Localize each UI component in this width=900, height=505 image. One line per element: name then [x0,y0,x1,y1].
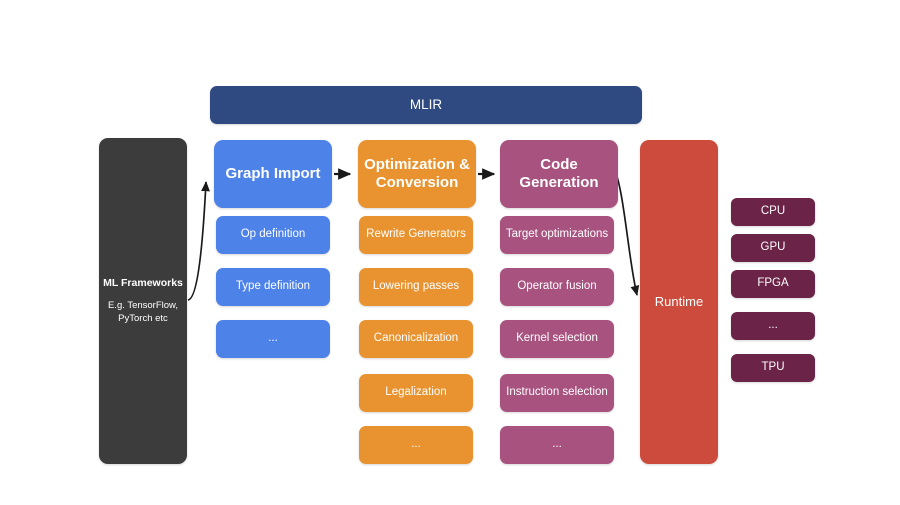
hardware-target-cpu[interactable]: CPU [731,198,815,226]
item-instruction-selection[interactable]: Instruction selection [500,374,614,412]
hardware-target-tpu[interactable]: TPU [731,354,815,382]
ml-frameworks-box[interactable]: ML Frameworks E.g. TensorFlow, PyTorch e… [99,138,187,464]
item-rewrite-generators[interactable]: Rewrite Generators [359,216,473,254]
ml-frameworks-title: ML Frameworks [103,277,183,289]
item-type-definition[interactable]: Type definition [216,268,330,306]
mlir-banner[interactable]: MLIR [210,86,642,124]
item-code-generation-more[interactable]: ... [500,426,614,464]
item-target-optimizations[interactable]: Target optimizations [500,216,614,254]
runtime-box[interactable]: Runtime [640,140,718,464]
item-op-definition[interactable]: Op definition [216,216,330,254]
item-lowering-passes[interactable]: Lowering passes [359,268,473,306]
hardware-target-gpu[interactable]: GPU [731,234,815,262]
hardware-target-fpga[interactable]: FPGA [731,270,815,298]
stage-code-generation[interactable]: Code Generation [500,140,618,208]
item-kernel-selection[interactable]: Kernel selection [500,320,614,358]
item-optimization-more[interactable]: ... [359,426,473,464]
item-operator-fusion[interactable]: Operator fusion [500,268,614,306]
ml-frameworks-subtitle: E.g. TensorFlow, PyTorch etc [99,300,187,326]
diagram-canvas: MLIR ML Frameworks E.g. TensorFlow, PyTo… [0,0,900,505]
item-legalization[interactable]: Legalization [359,374,473,412]
stage-optimization-conversion[interactable]: Optimization & Conversion [358,140,476,208]
hardware-target-more[interactable]: ... [731,312,815,340]
stage-graph-import[interactable]: Graph Import [214,140,332,208]
item-graph-import-more[interactable]: ... [216,320,330,358]
item-canonicalization[interactable]: Canonicalization [359,320,473,358]
arrow-frameworks-to-graph-import [188,182,206,300]
